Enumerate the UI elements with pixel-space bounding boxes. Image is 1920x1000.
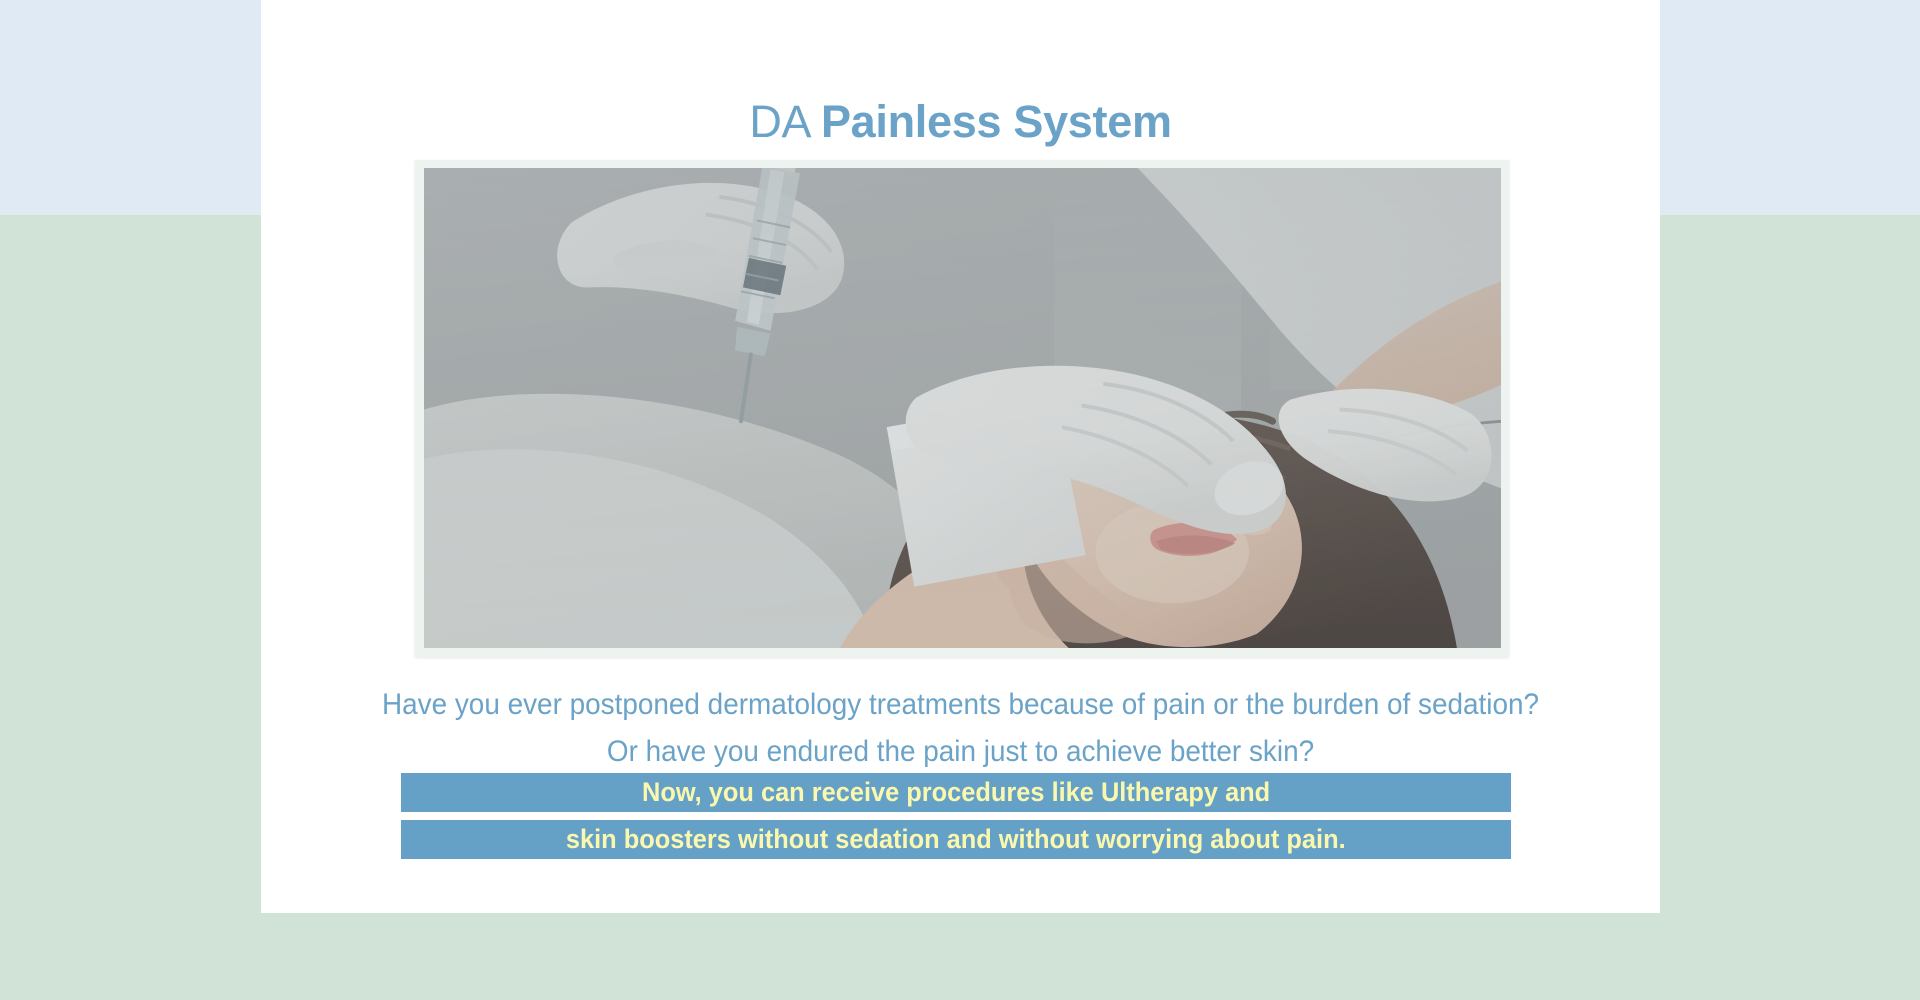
highlight-banner-group: Now, you can receive procedures like Ult… (401, 773, 1511, 859)
page-title-light: DA (749, 96, 821, 147)
page-root: DA Painless System (0, 0, 1920, 1000)
page-title: DA Painless System (261, 98, 1660, 145)
content-panel: DA Painless System (261, 0, 1660, 913)
hero-photo-frame (415, 160, 1509, 657)
intro-line-2: Or have you endured the pain just to ach… (310, 728, 1611, 775)
highlight-banner-2: skin boosters without sedation and witho… (401, 820, 1511, 859)
highlight-banner-2-text: skin boosters without sedation and witho… (566, 820, 1346, 859)
intro-paragraph: Have you ever postponed dermatology trea… (261, 681, 1660, 775)
highlight-banner-1: Now, you can receive procedures like Ult… (401, 773, 1511, 812)
highlight-banner-1-text: Now, you can receive procedures like Ult… (642, 773, 1270, 812)
page-title-bold: Painless System (821, 96, 1172, 147)
hero-photo (424, 168, 1501, 648)
intro-line-1: Have you ever postponed dermatology trea… (310, 681, 1611, 728)
